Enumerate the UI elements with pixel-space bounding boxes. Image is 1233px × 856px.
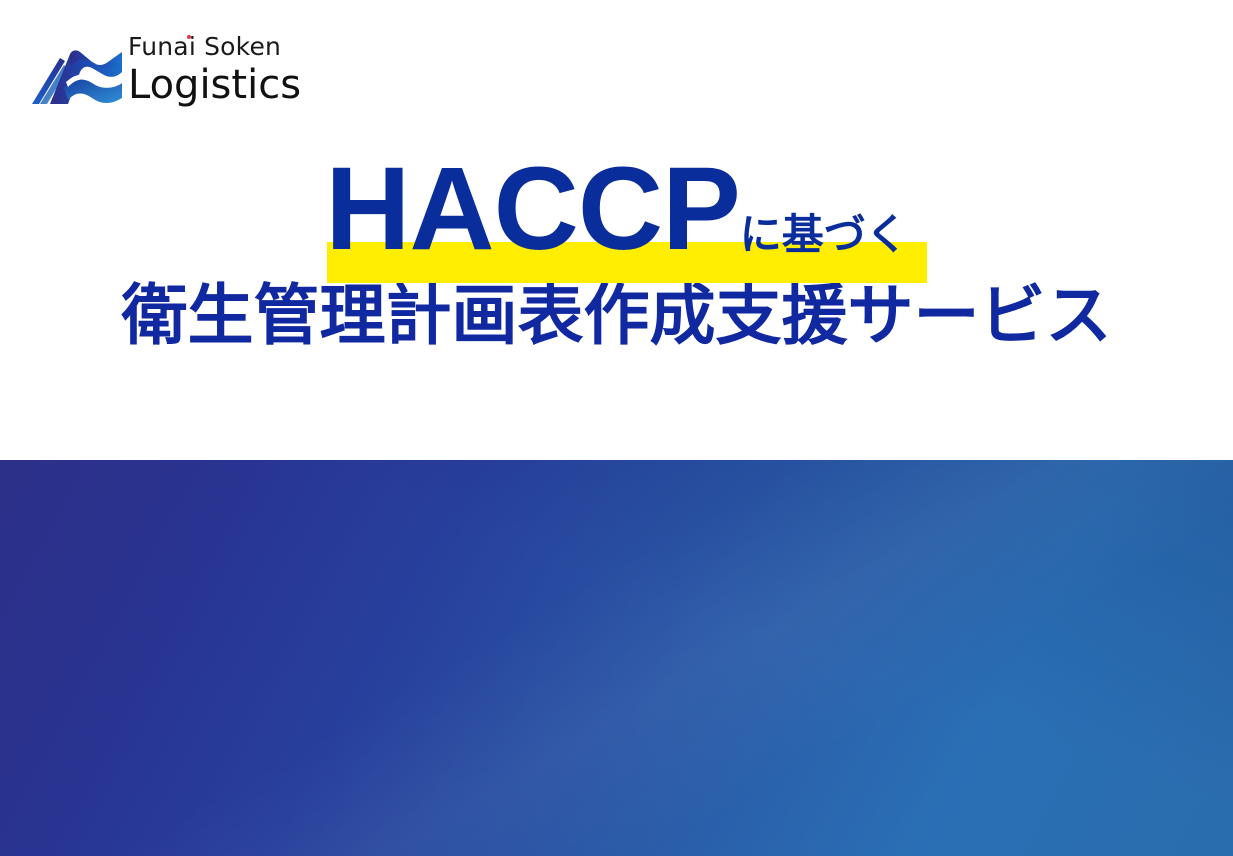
headline-suffix: に基づく	[740, 210, 908, 259]
headline-subtitle: 衛生管理計画表作成支援サービス	[0, 280, 1233, 353]
headline-line-1: HACCPに基づく	[325, 150, 908, 268]
headline-main-term: HACCP	[325, 143, 740, 275]
brand-name-line1: Funai Soken	[128, 33, 281, 61]
brand-accent-dot-icon	[187, 35, 191, 39]
brand-wordmark: Funai Soken Logistics	[128, 33, 338, 113]
brand-logo[interactable]: Funai Soken Logistics	[30, 33, 330, 113]
funai-soken-wave-mark-icon	[30, 48, 128, 106]
feature-banner: 負担最小減で 作成が可能 現場への 落とし込みを サポート 状況により 支援内容…	[0, 460, 1233, 856]
banner-gradient-sheen	[0, 460, 1233, 856]
page-headline: HACCPに基づく 衛生管理計画表作成支援サービス	[0, 150, 1233, 353]
brand-name-line2: Logistics	[128, 62, 338, 108]
brand-name-line1-text: Funai Soken	[128, 32, 281, 61]
